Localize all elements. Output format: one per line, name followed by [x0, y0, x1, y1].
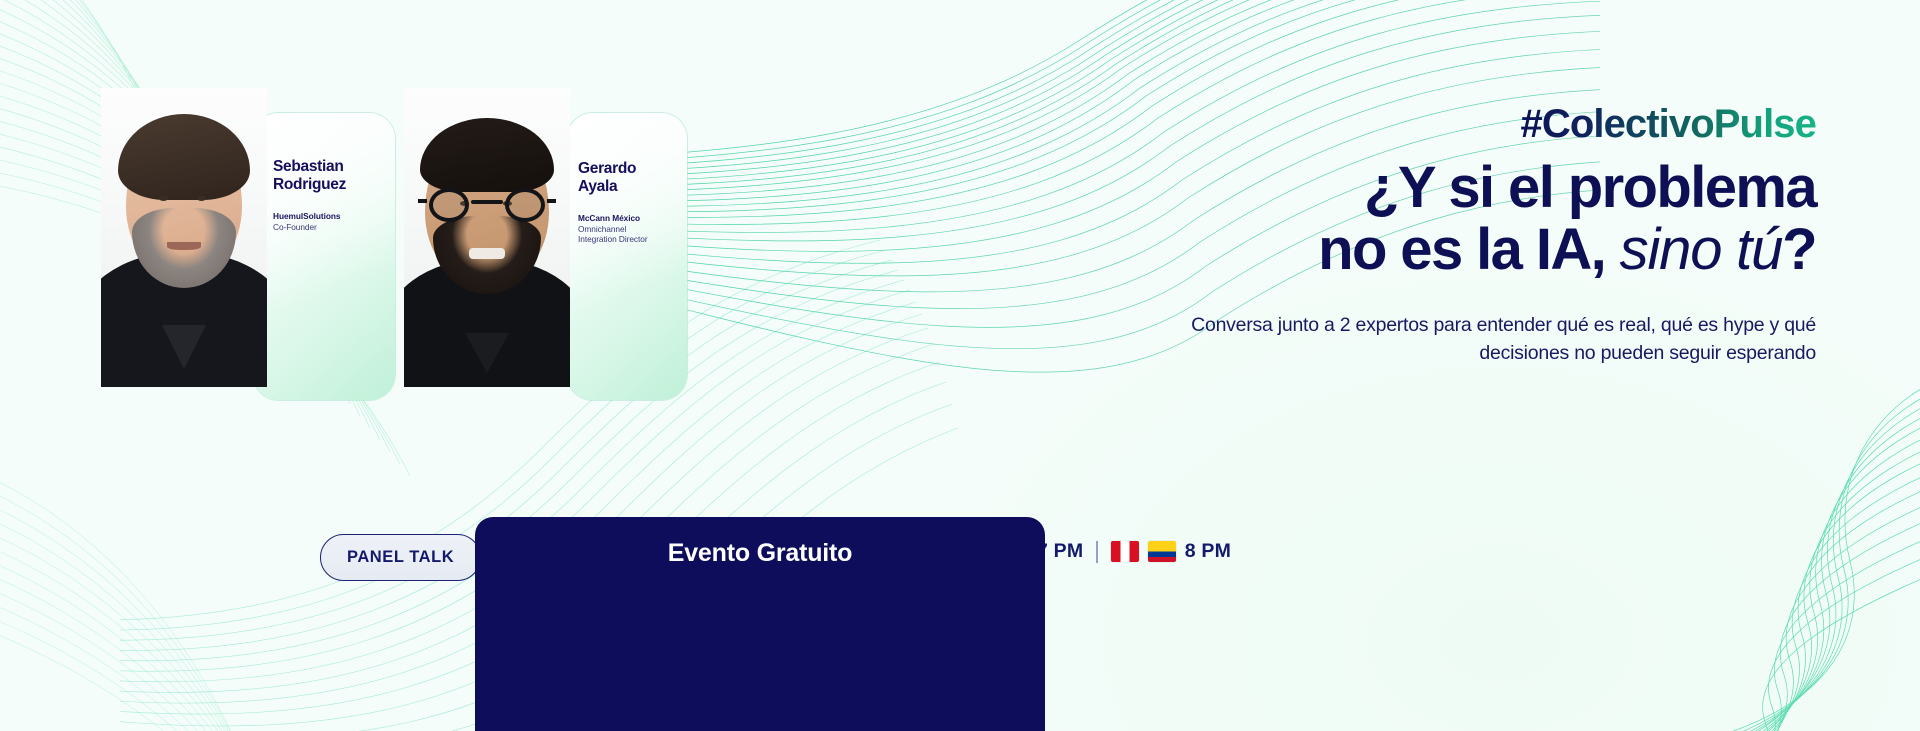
- headline-line-2-plain: no es la IA,: [1318, 217, 1605, 282]
- tag-panel-talk-label: PANEL TALK: [347, 548, 454, 567]
- peru-flag-icon: [1111, 541, 1139, 562]
- tag-panel-talk[interactable]: PANEL TALK: [320, 534, 481, 581]
- headline-line-1: ¿Y si el problema: [1318, 157, 1816, 219]
- speaker-role-2-line1: Omnichannel: [578, 224, 690, 235]
- decorative-wave-bottomright: [1400, 311, 1920, 731]
- photo-mouth: [167, 242, 201, 250]
- eyeglasses-icon: [424, 188, 550, 222]
- photo-eye-left: [159, 196, 168, 201]
- speaker-role-1-line1: Co-Founder: [273, 222, 391, 233]
- glasses-temple-right: [547, 199, 556, 203]
- photo-shirt-vneck: [162, 325, 206, 369]
- speaker-name-2: Gerardo Ayala: [578, 160, 690, 196]
- register-free-event-label: Evento Gratuito: [668, 539, 853, 731]
- glasses-lens-left: [429, 188, 469, 222]
- page-title: ¿Y si el problema no es la IA, sino tú?: [1318, 157, 1816, 281]
- speaker-name-1: Sebastian Rodriguez: [273, 158, 391, 194]
- photo-eye-right: [197, 196, 206, 201]
- event-promo-banner: Sebastian Rodriguez HuemulSolutions Co-F…: [0, 0, 1920, 731]
- photo-shirt-vneck: [465, 333, 509, 373]
- speaker-company-2: McCann México: [578, 213, 690, 223]
- speaker-info-2: Gerardo Ayala McCann México Omnichannel …: [578, 160, 690, 245]
- photo-mouth: [469, 248, 505, 259]
- speaker-photo-2: [404, 88, 570, 387]
- speaker-role-2-line2: Integration Director: [578, 234, 690, 245]
- event-subtitle: Conversa junto a 2 expertos para entende…: [1184, 312, 1816, 368]
- time-colombia: 8 PM: [1185, 540, 1231, 563]
- speaker-name-1-line2: Rodriguez: [273, 176, 391, 194]
- speaker-company-1: HuemulSolutions: [273, 211, 391, 221]
- glasses-lens-right: [505, 188, 545, 222]
- speaker-name-2-line1: Gerardo: [578, 160, 690, 178]
- speaker-card-1: [253, 113, 395, 400]
- register-free-event-button[interactable]: Evento Gratuito: [475, 517, 1045, 731]
- colombia-flag-icon: [1148, 541, 1176, 562]
- card-gradient-overlay: [567, 113, 687, 400]
- speaker-photo-1: [101, 88, 267, 387]
- glasses-bridge: [471, 200, 503, 204]
- speaker-name-1-line1: Sebastian: [273, 158, 391, 176]
- speaker-name-2-line2: Ayala: [578, 178, 690, 196]
- headline-question-mark: ?: [1782, 217, 1816, 282]
- headline-line-2-italic: sino tú: [1620, 217, 1783, 282]
- event-hashtag: #ColectivoPulse: [1520, 102, 1816, 147]
- speaker-info-1: Sebastian Rodriguez HuemulSolutions Co-F…: [273, 158, 391, 232]
- card-gradient-overlay: [253, 113, 395, 400]
- divider: [1096, 541, 1097, 563]
- glasses-temple-left: [418, 199, 427, 203]
- headline-line-2: no es la IA, sino tú?: [1318, 219, 1816, 281]
- speaker-card-2: [567, 113, 687, 400]
